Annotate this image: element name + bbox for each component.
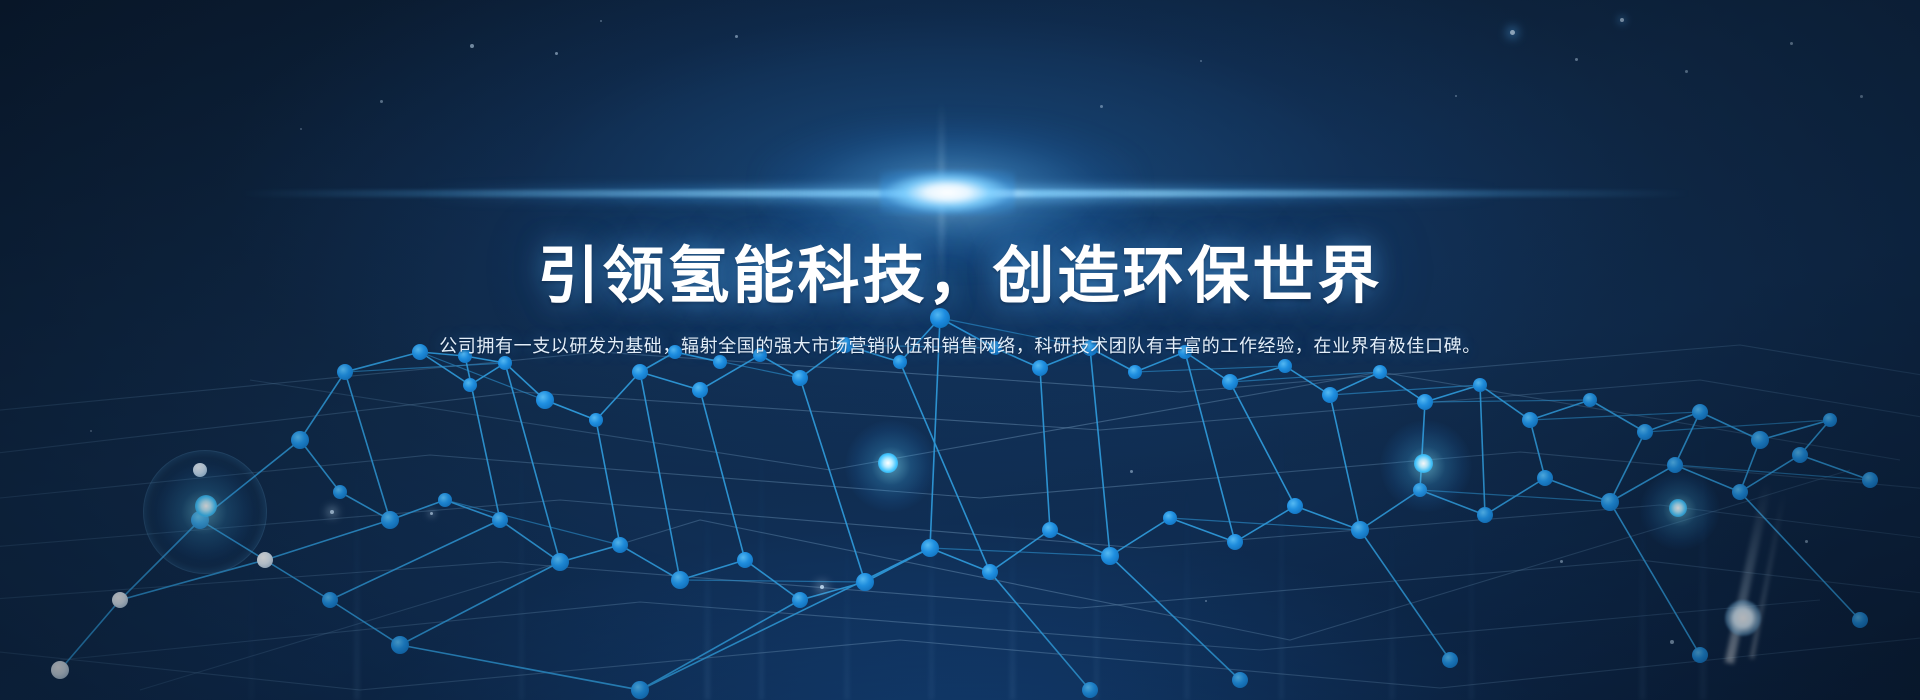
hero-text-block: 引领氢能科技，创造环保世界 公司拥有一支以研发为基础，辐射全国的强大市场营销队伍… xyxy=(0,0,1920,360)
hero-banner: 引领氢能科技，创造环保世界 公司拥有一支以研发为基础，辐射全国的强大市场营销队伍… xyxy=(0,0,1920,700)
network-nodes xyxy=(51,308,1878,699)
page-title: 引领氢能科技，创造环保世界 xyxy=(0,244,1920,311)
hero-subtitle: 公司拥有一支以研发为基础，辐射全国的强大市场营销队伍和销售网络，科研技术团队有丰… xyxy=(0,333,1920,360)
